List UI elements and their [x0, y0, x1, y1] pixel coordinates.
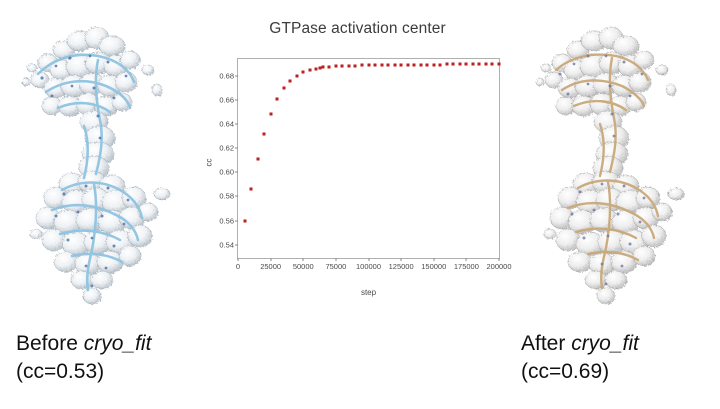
x-axis-tick-mark [433, 258, 434, 261]
data-point [413, 63, 416, 66]
y-axis-tick-label: 0.60 [219, 168, 234, 177]
data-point [269, 113, 272, 116]
caption-before-prefix: Before [16, 332, 84, 355]
data-point [354, 64, 357, 67]
data-point [498, 63, 501, 66]
x-axis-tick-label: 125000 [389, 262, 414, 271]
data-point [250, 188, 253, 191]
data-point [491, 63, 494, 66]
data-point [308, 68, 311, 71]
data-point [380, 64, 383, 67]
convergence-scatter-chart: GTPase activation center 0.540.560.580.6… [205, 12, 510, 302]
caption-after: After cryo_fit (cc=0.69) [521, 330, 639, 385]
x-axis-tick-label: 75000 [325, 262, 346, 271]
x-axis-tick-mark [303, 258, 304, 261]
y-axis-tick-mark [235, 100, 238, 101]
x-axis-label: step [237, 288, 500, 297]
x-axis-tick-mark [401, 258, 402, 261]
x-axis-tick-mark [499, 258, 500, 261]
x-axis-tick-label: 200000 [486, 262, 511, 271]
data-point [452, 63, 455, 66]
y-axis-tick-label: 0.62 [219, 144, 234, 153]
plot-area [238, 59, 499, 258]
y-axis-tick-mark [235, 75, 238, 76]
data-point [458, 63, 461, 66]
data-point [334, 65, 337, 68]
data-point [256, 158, 259, 161]
caption-before: Before cryo_fit (cc=0.53) [16, 330, 151, 385]
density-blobs-upper [22, 27, 162, 116]
y-axis-tick-label: 0.54 [219, 240, 234, 249]
caption-after-italic: cryo_fit [571, 332, 639, 355]
data-point [276, 97, 279, 100]
data-point [426, 63, 429, 66]
data-point [393, 63, 396, 66]
y-axis-tick-label: 0.68 [219, 71, 234, 80]
y-axis-tick-mark [235, 244, 238, 245]
data-point [432, 63, 435, 66]
x-axis-tick-label: 25000 [260, 262, 281, 271]
y-axis-label: cc [205, 159, 214, 167]
before-density-map-svg [2, 8, 202, 318]
data-point [243, 219, 246, 222]
data-point [328, 65, 331, 68]
data-point [406, 63, 409, 66]
data-point [347, 64, 350, 67]
data-point [374, 64, 377, 67]
caption-before-cc: (cc=0.53) [16, 358, 151, 386]
data-point [484, 63, 487, 66]
x-axis-tick-mark [368, 258, 369, 261]
x-axis-tick-mark [270, 258, 271, 261]
y-axis-tick-mark [235, 220, 238, 221]
x-axis-tick-label: 50000 [293, 262, 314, 271]
data-point [341, 64, 344, 67]
caption-after-cc: (cc=0.69) [521, 358, 639, 386]
data-point [295, 74, 298, 77]
y-axis-tick-mark [235, 172, 238, 173]
x-axis-tick-label: 0 [236, 262, 240, 271]
cryo-fit-comparison-figure: GTPase activation center 0.540.560.580.6… [0, 0, 720, 409]
x-axis-tick-label: 100000 [356, 262, 381, 271]
density-blobs-lower [30, 171, 170, 304]
y-axis-tick-label: 0.56 [219, 216, 234, 225]
caption-after-prefix: After [521, 332, 571, 355]
data-point [321, 66, 324, 69]
data-point [302, 71, 305, 74]
data-point [360, 64, 363, 67]
before-cryo-fit-structure [2, 8, 202, 318]
data-point [387, 63, 390, 66]
density-blobs-lower [544, 171, 684, 304]
plot-frame: 0.540.560.580.600.620.640.660.6802500050… [237, 58, 500, 259]
after-density-map-svg [516, 8, 716, 318]
y-axis-tick-mark [235, 148, 238, 149]
x-axis-tick-mark [466, 258, 467, 261]
data-point [367, 64, 370, 67]
x-axis-tick-label: 175000 [454, 262, 479, 271]
data-point [445, 63, 448, 66]
after-cryo-fit-structure [516, 8, 716, 318]
y-axis-tick-mark [235, 124, 238, 125]
data-point [282, 86, 285, 89]
data-point [419, 63, 422, 66]
x-axis-tick-mark [238, 258, 239, 261]
data-point [478, 63, 481, 66]
data-point [465, 63, 468, 66]
data-point [289, 79, 292, 82]
chart-title: GTPase activation center [205, 20, 510, 38]
y-axis-tick-label: 0.64 [219, 120, 234, 129]
caption-before-italic: cryo_fit [84, 332, 152, 355]
data-point [263, 132, 266, 135]
y-axis-tick-mark [235, 196, 238, 197]
data-point [400, 63, 403, 66]
x-axis-tick-label: 150000 [421, 262, 446, 271]
x-axis-tick-mark [335, 258, 336, 261]
data-point [471, 63, 474, 66]
y-axis-tick-label: 0.66 [219, 96, 234, 105]
data-point [439, 63, 442, 66]
y-axis-tick-label: 0.58 [219, 192, 234, 201]
